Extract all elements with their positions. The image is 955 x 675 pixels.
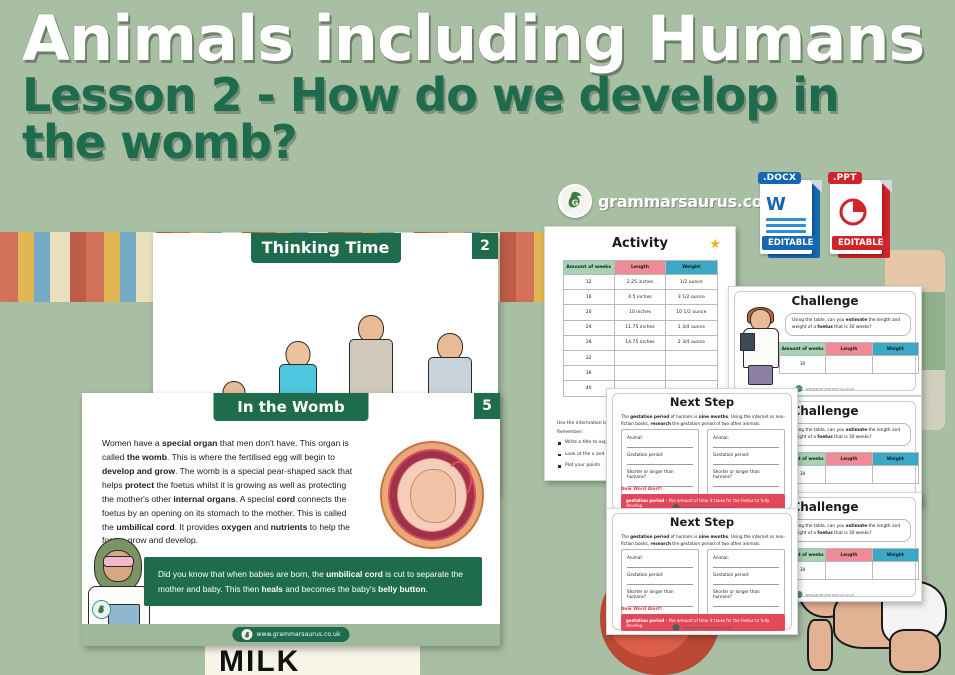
- column-header-weeks: Amount of weeks: [563, 261, 614, 275]
- field-label-comparison: Shorter or longer than humans?: [627, 589, 693, 599]
- field-label-comparison: Shorter or longer than humans?: [713, 469, 779, 479]
- column-header-weeks: Amount of weeks: [780, 343, 826, 356]
- cell-length: [826, 356, 872, 374]
- challenge-prompt: Using the table, can you estimate the le…: [785, 313, 911, 336]
- did-you-know-fact: Did you know that when babies are born, …: [144, 557, 482, 606]
- slide-in-the-womb-body: Women have a special organ that men don'…: [102, 437, 354, 548]
- cell-weeks: 32: [563, 350, 614, 365]
- ppt-badge[interactable]: .PPT EDITABLE: [830, 172, 892, 258]
- table-row: 36: [563, 366, 717, 381]
- word-document-icon: W: [766, 194, 806, 228]
- column-header-length: Length: [826, 343, 872, 356]
- challenge-prompt: Using the table, can you estimate the le…: [785, 423, 911, 446]
- cell-length: 11.75 inches: [614, 320, 665, 335]
- column-header-weight: Weight: [872, 549, 918, 562]
- cell-weeks: 36: [563, 366, 614, 381]
- table-row: 30: [780, 562, 919, 580]
- cell-length: [826, 562, 872, 580]
- cell-weeks: 24: [563, 320, 614, 335]
- column-header-weight: Weight: [872, 453, 918, 466]
- column-header-length: Length: [614, 261, 665, 275]
- table-row: 32: [563, 350, 717, 365]
- footer-url: www.grammarsaurus.co.uk: [682, 626, 731, 630]
- cell-length: 2.25 inches: [614, 275, 665, 290]
- foetus-in-womb-icon: [380, 441, 484, 549]
- slide-in-the-womb-page-number: 5: [474, 393, 500, 419]
- cell-weight: [872, 356, 918, 374]
- cell-length: 14.75 inches: [614, 335, 665, 350]
- new-word-alert-label: New Word Alert!: [621, 607, 662, 612]
- field-label-gestation: Gestation period:: [627, 572, 693, 577]
- resource-preview-canvas: MILK Animals including Humans Lesson 2 -…: [0, 0, 955, 675]
- challenge-prompt: Using the table, can you estimate the le…: [785, 519, 911, 542]
- page-title: Animals including Humans: [22, 8, 922, 70]
- table-row: 2010 inches10 1/2 ounce: [563, 305, 717, 320]
- cell-weight: [666, 350, 717, 365]
- field-label-animal: Animal:: [713, 555, 779, 560]
- table-row: 30: [780, 466, 919, 484]
- sheet-next-step[interactable]: Next Step The gestation period of humans…: [606, 388, 798, 515]
- brand-logo-group[interactable]: G grammarsaurus.co.uk: [558, 184, 790, 218]
- doctor-character-icon: [741, 309, 781, 383]
- cell-weight: [872, 466, 918, 484]
- challenge-table: Amount of weeks Length Weight 30: [779, 342, 919, 374]
- cell-weight: 1 3/4 ounce: [666, 320, 717, 335]
- new-word-alert-label: New Word Alert!: [621, 487, 662, 492]
- file-format-badges: W .DOCX EDITABLE .PPT EDITABLE: [760, 172, 892, 258]
- table-row: 30: [780, 356, 919, 374]
- cell-length: 4.5 inches: [614, 290, 665, 305]
- column-header-length: Length: [826, 549, 872, 562]
- next-step-intro: The gestation period of humans is nine m…: [621, 413, 785, 427]
- cell-length: 10 inches: [614, 305, 665, 320]
- challenge-table: Amount of weeks Length Weight 30: [779, 452, 919, 484]
- sheet-challenge-footer: www.grammarsaurus.co.uk: [795, 385, 854, 392]
- sheet-next-step[interactable]: Next Step The gestation period of humans…: [606, 508, 798, 635]
- ppt-format-label: .PPT: [828, 172, 862, 184]
- field-label-animal: Animal:: [713, 435, 779, 440]
- table-header-row: Amount of weeks Length Weight: [563, 261, 717, 275]
- sheet-activity-title: Activity: [545, 236, 735, 251]
- docx-badge[interactable]: W .DOCX EDITABLE: [760, 172, 822, 258]
- table-row: 2411.75 inches1 3/4 ounce: [563, 320, 717, 335]
- activity-table: Amount of weeks Length Weight 122.25 inc…: [563, 260, 718, 397]
- cell-weeks: 16: [563, 290, 614, 305]
- next-step-intro: The gestation period of humans is nine m…: [621, 533, 785, 547]
- table-header-row: Amount of weeks Length Weight: [780, 453, 919, 466]
- footer-url: www.grammarsaurus.co.uk: [805, 387, 854, 391]
- field-label-comparison: Shorter or longer than humans?: [627, 469, 693, 479]
- footer-url: www.grammarsaurus.co.uk: [805, 593, 854, 597]
- table-row: 164.5 inches3 1/2 ounce: [563, 290, 717, 305]
- footer-logo-icon: [672, 624, 679, 631]
- sheet-challenge-footer: www.grammarsaurus.co.uk: [795, 591, 854, 598]
- dinosaur-g-logo-icon: G: [558, 184, 592, 218]
- cell-weight: 10 1/2 ounce: [666, 305, 717, 320]
- challenge-table: Amount of weeks Length Weight 30: [779, 548, 919, 580]
- slide-thinking-time-banner: Thinking Time: [251, 233, 401, 263]
- sheet-challenge[interactable]: Challenge Using the table, can you estim…: [728, 286, 922, 396]
- field-label-comparison: Shorter or longer than humans?: [713, 589, 779, 599]
- column-header-weight: Weight: [872, 343, 918, 356]
- next-step-animal-box[interactable]: Animal: Gestation period: Shorter or lon…: [707, 429, 785, 495]
- field-label-gestation: Gestation period:: [713, 572, 779, 577]
- star-icon: ★: [709, 237, 721, 250]
- sheet-next-step-footer: www.grammarsaurus.co.uk: [672, 624, 731, 631]
- table-header-row: Amount of weeks Length Weight: [780, 549, 919, 562]
- ppt-editable-label: EDITABLE: [832, 236, 889, 250]
- cell-weight: 1/2 ounce: [666, 275, 717, 290]
- powerpoint-document-icon: [836, 194, 876, 228]
- svg-text:G: G: [572, 198, 579, 208]
- slide-in-the-womb[interactable]: In the Womb 5 Women have a special organ…: [82, 393, 500, 646]
- slide-in-the-womb-banner: In the Womb: [214, 393, 369, 421]
- field-label-animal: Animal:: [627, 435, 693, 440]
- page-subtitle: Lesson 2 - How do we develop in the womb…: [22, 72, 872, 166]
- footer-url: www.grammarsaurus.co.uk: [256, 631, 340, 638]
- field-label-gestation: Gestation period:: [627, 452, 693, 457]
- cell-weight: [872, 562, 918, 580]
- cell-weeks: 30: [780, 356, 826, 374]
- table-row: 2814.75 inches2 3/4 ounce: [563, 335, 717, 350]
- cell-weeks: 28: [563, 335, 614, 350]
- docx-editable-label: EDITABLE: [762, 236, 819, 250]
- cell-weeks: 20: [563, 305, 614, 320]
- table-header-row: Amount of weeks Length Weight: [780, 343, 919, 356]
- header: Animals including Humans Lesson 2 - How …: [22, 8, 922, 166]
- cell-length: [826, 466, 872, 484]
- next-step-animal-box[interactable]: Animal: Gestation period: Shorter or lon…: [621, 549, 699, 615]
- cell-length: [614, 350, 665, 365]
- table-row: 122.25 inches1/2 ounce: [563, 275, 717, 290]
- next-step-animal-box[interactable]: Animal: Gestation period: Shorter or lon…: [621, 429, 699, 495]
- cell-weight: [666, 366, 717, 381]
- footer-logo-icon: [241, 629, 252, 640]
- next-step-animal-box[interactable]: Animal: Gestation period: Shorter or lon…: [707, 549, 785, 615]
- field-label-gestation: Gestation period:: [713, 452, 779, 457]
- docx-format-label: .DOCX: [758, 172, 801, 184]
- cell-weeks: 12: [563, 275, 614, 290]
- column-header-length: Length: [826, 453, 872, 466]
- slide-thinking-time-page-number: 2: [472, 233, 498, 259]
- milk-carton-label: MILK: [219, 645, 300, 675]
- field-label-animal: Animal:: [627, 555, 693, 560]
- scientist-character-icon: [86, 538, 150, 630]
- column-header-weight: Weight: [666, 261, 717, 275]
- cell-weight: 3 1/2 ounce: [666, 290, 717, 305]
- cell-length: [614, 366, 665, 381]
- cell-weight: 2 3/4 ounce: [666, 335, 717, 350]
- slide-in-the-womb-footer: www.grammarsaurus.co.uk: [232, 627, 349, 642]
